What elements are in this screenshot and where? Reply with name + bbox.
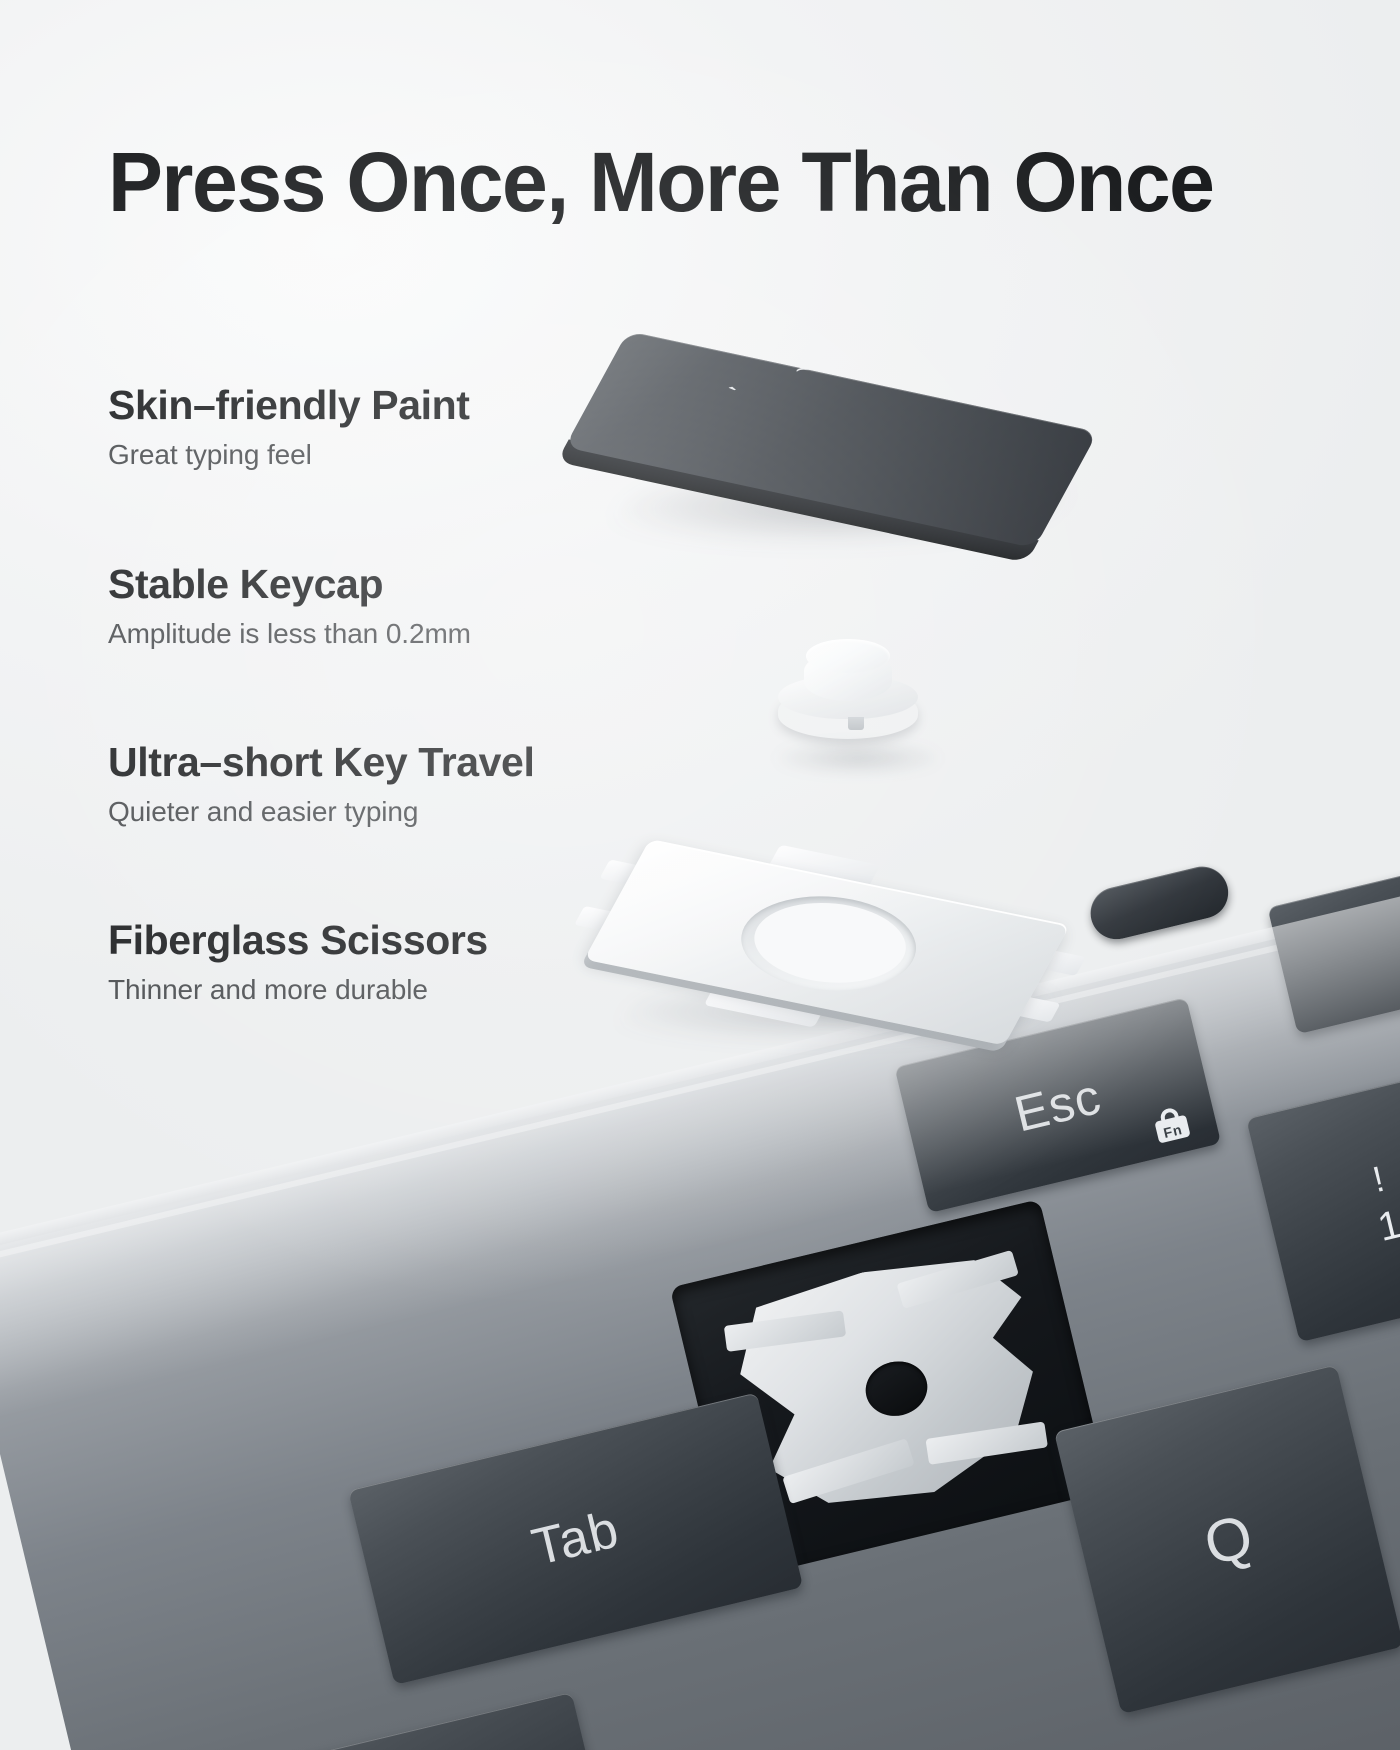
exploded-rubber-dome (770, 635, 950, 750)
key-one-lower-label: 1 (1374, 1203, 1400, 1249)
lock-icon: Fn (1150, 1103, 1193, 1144)
feature-item-fiberglass-scissors: Fiberglass Scissors Thinner and more dur… (108, 918, 748, 1006)
feature-subtitle: Quieter and easier typing (108, 796, 748, 828)
feature-subtitle: Thinner and more durable (108, 974, 748, 1006)
key-esc-label: Esc (1009, 1067, 1107, 1144)
key-one-upper-label: ! (1369, 1160, 1389, 1199)
feature-title: Skin–friendly Paint (108, 383, 748, 429)
product-infographic: Esc Fn ! 1 Tab Q (0, 0, 1400, 1750)
key-q-label: Q (1198, 1500, 1260, 1578)
feature-subtitle: Great typing feel (108, 439, 748, 471)
feature-title: Ultra–short Key Travel (108, 740, 748, 786)
feature-item-stable-keycap: Stable Keycap Amplitude is less than 0.2… (108, 562, 748, 650)
feature-title: Fiberglass Scissors (108, 918, 748, 964)
keycap-tilde-legend: ~ (795, 355, 815, 384)
feature-item-skin-friendly-paint: Skin–friendly Paint Great typing feel (108, 383, 748, 471)
key-tab-label: Tab (526, 1499, 624, 1578)
feature-title: Stable Keycap (108, 562, 748, 608)
feature-subtitle: Amplitude is less than 0.2mm (108, 618, 748, 650)
feature-item-ultra-short-key-travel: Ultra–short Key Travel Quieter and easie… (108, 740, 748, 828)
page-headline: Press Once, More Than Once (108, 140, 1264, 224)
